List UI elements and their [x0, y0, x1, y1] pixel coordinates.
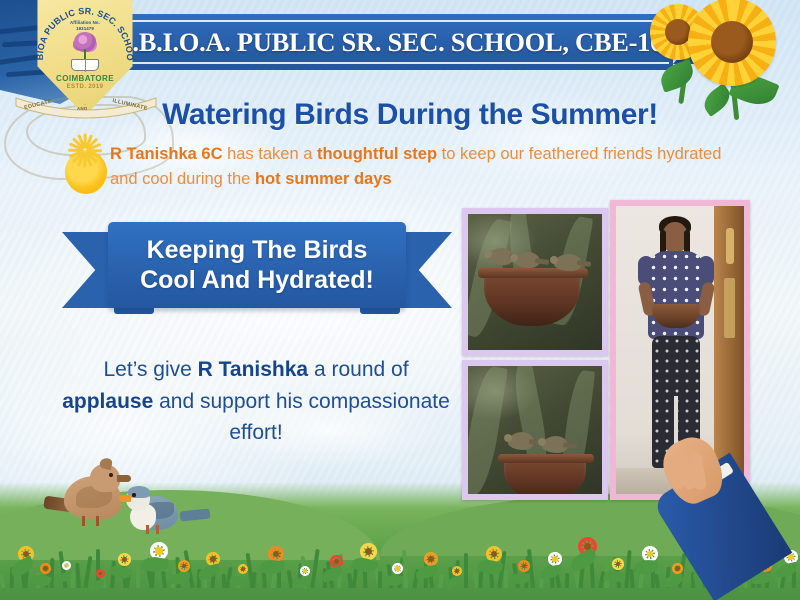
- logo-affiliation-number: 1931479: [31, 26, 139, 32]
- garden-flower: [452, 566, 462, 576]
- closing-student-name: R Tanishka: [198, 358, 308, 381]
- logo-motto: EDUCATE AND ILLUMINATE: [12, 102, 160, 108]
- sunflower-decoration: [636, 0, 792, 122]
- closing-highlight: applause: [62, 390, 153, 413]
- logo-book-icon: [71, 59, 99, 71]
- photo-birds-on-pot-bottom: [462, 360, 608, 500]
- grass-blade: [50, 558, 55, 588]
- grass-blade: [504, 570, 508, 588]
- garden-flower: [300, 566, 310, 576]
- closing-paragraph: Let’s give R Tanishka a round of applaus…: [56, 354, 456, 449]
- ribbon-banner-body: Keeping The Birds Cool And Hydrated!: [108, 222, 406, 308]
- photo-scene-foliage: [468, 214, 602, 350]
- closing-text-2: a round of: [308, 358, 408, 381]
- intro-text-1: has taken a: [222, 145, 316, 163]
- grass-blade: [654, 574, 660, 588]
- grass-blade: [565, 573, 570, 588]
- hand-with-blue-sleeve-decoration: [666, 442, 762, 572]
- garden-flower: [96, 569, 105, 578]
- school-title-banner: S.B.I.O.A. PUBLIC SR. SEC. SCHOOL, CBE-1…: [108, 14, 673, 70]
- poster-canvas: S.B.I.O.A. PUBLIC SR. SEC. SCHOOL, CBE-1…: [0, 0, 800, 600]
- closing-text-3: and support his compassionate effort!: [153, 390, 450, 445]
- garden-leaf: [415, 564, 438, 579]
- logo-motto-mid: AND: [77, 106, 88, 112]
- door-lock: [724, 278, 735, 338]
- garden-leaf: [170, 572, 191, 584]
- garden-leaf: [54, 572, 71, 582]
- garden-leaf: [87, 579, 106, 592]
- intro-paragraph: R Tanishka 6C has taken a thoughtful ste…: [110, 142, 745, 192]
- grass-blade: [464, 553, 468, 588]
- grass-blade: [136, 566, 140, 588]
- school-name-text: S.B.I.O.A. PUBLIC SR. SEC. SCHOOL, CBE-1…: [108, 14, 673, 70]
- sunflower-large-icon: [688, 0, 776, 86]
- intro-highlight-1: thoughtful step: [317, 145, 437, 163]
- logo-affiliation: Affiliation No. 1931479: [31, 20, 139, 32]
- illustrated-blue-bird: [122, 482, 196, 534]
- logo-estd-text: ESTD. 2019: [31, 84, 139, 90]
- garden-flower: [62, 561, 71, 570]
- photo-scene-foliage-2: [468, 366, 602, 494]
- garden-flower: [118, 553, 131, 566]
- grass-blade: [161, 571, 167, 588]
- intro-highlight-2: hot summer days: [255, 170, 392, 188]
- logo-city-text: COIMBATORE: [31, 74, 139, 83]
- page-title: Watering Birds During the Summer!: [110, 98, 710, 132]
- garden-leaf: [292, 577, 311, 589]
- garden-flower: [238, 564, 248, 574]
- grass-blade: [0, 574, 5, 589]
- ribbon-banner-line-1: Keeping The Birds: [147, 235, 368, 266]
- grass-blade: [378, 571, 383, 588]
- grass-blade: [438, 574, 443, 588]
- garden-leaf: [443, 575, 463, 591]
- grass-blade: [251, 572, 256, 588]
- intro-student-name: R Tanishka 6C: [110, 145, 222, 163]
- garden-flower: [178, 560, 190, 572]
- garden-flower: [40, 563, 51, 574]
- school-logo: SBIOA PUBLIC SR. SEC. SCHOOL Affiliation…: [31, 0, 139, 116]
- door-handle: [726, 228, 734, 264]
- highlight-ribbon-banner: Keeping The Birds Cool And Hydrated!: [62, 222, 452, 314]
- garden-flower: [612, 558, 624, 570]
- closing-text-1: Let’s give: [103, 358, 197, 381]
- photo-birds-on-pot-top: [462, 208, 608, 356]
- grass-blade: [75, 563, 81, 588]
- garden-flower: [518, 560, 530, 572]
- garden-flower: [392, 563, 403, 574]
- ribbon-banner-line-2: Cool And Hydrated!: [140, 265, 374, 296]
